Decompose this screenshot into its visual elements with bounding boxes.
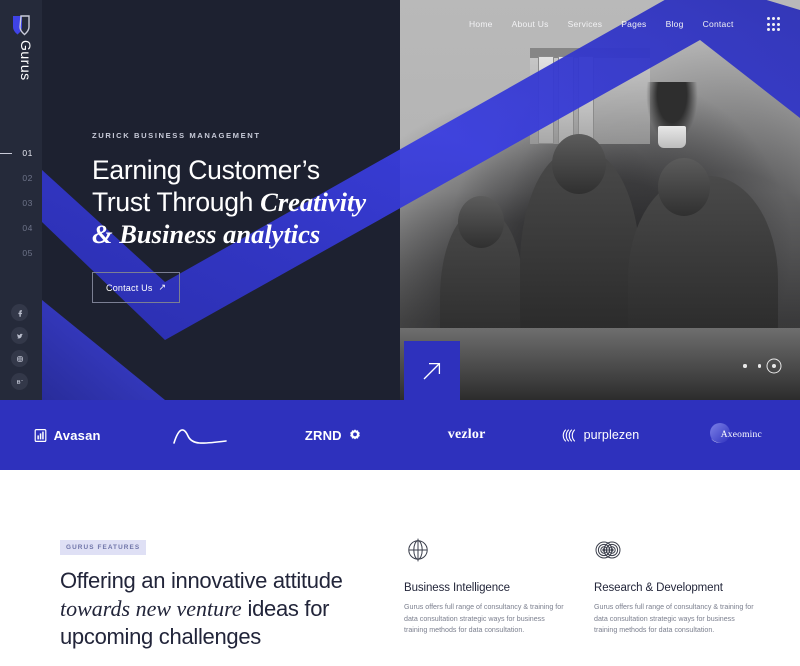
brand-logo-wave[interactable] — [133, 424, 266, 446]
photo-desk — [400, 328, 800, 400]
slide-indicator-02[interactable]: 02 — [0, 165, 42, 190]
nav-link-contact[interactable]: Contact — [703, 19, 734, 29]
features-badge: GURUS FEATURES — [60, 540, 146, 555]
arrow-up-right-icon: ↗ — [159, 282, 167, 293]
nav-link-services[interactable]: Services — [568, 19, 603, 29]
hero-title: Earning Customer’s Trust Through Creativ… — [92, 154, 392, 250]
contact-us-button[interactable]: Contact Us ↗ — [92, 272, 180, 303]
brand-logo-purplezen[interactable]: purplezen — [533, 427, 666, 444]
nav-link-blog[interactable]: Blog — [666, 19, 684, 29]
feature-body: Gurus offers full range of consultancy &… — [594, 602, 759, 637]
hero-eyebrow: ZURICK BUSINESS MANAGEMENT — [92, 131, 392, 140]
nav-link-home[interactable]: Home — [469, 19, 493, 29]
brand-name-purplezen: purplezen — [584, 428, 640, 442]
twitter-icon[interactable] — [11, 327, 28, 344]
wave-mark-icon — [172, 424, 228, 446]
hero-title-line2-plain: Trust Through — [92, 187, 260, 217]
arrow-up-right-icon — [419, 358, 445, 384]
carousel-dot-3-active[interactable] — [772, 364, 776, 368]
brand-name-avasan: Avasan — [54, 428, 101, 443]
carousel-dots — [743, 364, 776, 368]
grid-menu-icon[interactable] — [767, 17, 780, 30]
features-heading-line3: upcoming challenges — [60, 624, 261, 649]
feature-body: Gurus offers full range of consultancy &… — [404, 602, 569, 637]
arrow-badge[interactable] — [404, 341, 460, 400]
photo-person-head — [458, 196, 504, 248]
landing-page: Gurus 01 02 03 04 05 — [0, 0, 800, 666]
photo-binder — [538, 56, 554, 144]
bar-chart-icon — [33, 428, 48, 443]
brand-logo-zrnd[interactable]: ZRND — [267, 428, 400, 443]
photo-pot — [658, 126, 686, 148]
slide-indicator-03[interactable]: 03 — [0, 190, 42, 215]
photo-binder — [558, 56, 574, 144]
instagram-icon[interactable] — [11, 350, 28, 367]
hero-title-line1: Earning Customer’s — [92, 155, 320, 185]
brand-logos-strip: Avasan ZRND vezlor — [0, 400, 800, 470]
social-links — [11, 304, 31, 396]
hero-copy: ZURICK BUSINESS MANAGEMENT Earning Custo… — [92, 131, 392, 303]
photo-binder — [578, 56, 594, 144]
features-heading-line1: Offering an innovative attitude — [60, 568, 343, 593]
brand-name-zrnd: ZRND — [305, 428, 342, 443]
features-heading-italic: towards new venture — [60, 596, 242, 621]
slide-indicator-05[interactable]: 05 — [0, 240, 42, 265]
nav-link-pages[interactable]: Pages — [621, 19, 646, 29]
brand-name-vezlor: vezlor — [448, 427, 486, 443]
photo-person-head — [658, 158, 710, 216]
feature-card-business-intelligence[interactable]: Business Intelligence Gurus offers full … — [404, 536, 569, 637]
concentric-circles-icon — [594, 536, 622, 564]
top-navigation: Home About Us Services Pages Blog Contac… — [400, 0, 800, 48]
striped-circle-icon — [561, 427, 578, 444]
globe-icon — [404, 536, 432, 564]
logo-text: Gurus — [10, 40, 34, 81]
features-heading: Offering an innovative attitude towards … — [60, 567, 360, 651]
slide-indicator-list: 01 02 03 04 05 — [0, 140, 42, 265]
features-heading-line2: ideas for — [242, 596, 330, 621]
carousel-dot-2[interactable] — [758, 364, 761, 367]
behance-icon[interactable] — [11, 373, 28, 390]
brand-logo-vezlor[interactable]: vezlor — [400, 427, 533, 443]
brand-logo-avasan[interactable]: Avasan — [0, 428, 133, 443]
features-intro: GURUS FEATURES Offering an innovative at… — [60, 536, 360, 651]
brand-name-axeominc: Axeominc — [721, 430, 762, 440]
photo-person-head — [552, 134, 606, 194]
brand-logo-axeominc[interactable]: Axeominc — [667, 420, 800, 450]
facebook-icon[interactable] — [11, 304, 28, 321]
shield-icon — [11, 14, 31, 36]
left-rail: Gurus 01 02 03 04 05 — [0, 0, 42, 400]
features-section: GURUS FEATURES Offering an innovative at… — [0, 470, 800, 666]
feature-card-research-development[interactable]: Research & Development Gurus offers full… — [594, 536, 759, 637]
carousel-dot-1[interactable] — [743, 364, 746, 367]
slide-indicator-01[interactable]: 01 — [0, 140, 42, 165]
logo[interactable]: Gurus — [11, 14, 33, 41]
slide-indicator-04[interactable]: 04 — [0, 215, 42, 240]
feature-title: Research & Development — [594, 582, 759, 594]
contact-us-label: Contact Us — [106, 283, 153, 293]
nav-link-about-us[interactable]: About Us — [512, 19, 549, 29]
hero-section: Gurus 01 02 03 04 05 — [0, 0, 800, 400]
hero-title-line3-italic: & Business analytics — [92, 219, 320, 249]
hero-title-line2-italic: Creativity — [260, 187, 366, 217]
feature-title: Business Intelligence — [404, 582, 569, 594]
gear-icon — [348, 428, 362, 442]
hero-photo — [400, 0, 800, 400]
